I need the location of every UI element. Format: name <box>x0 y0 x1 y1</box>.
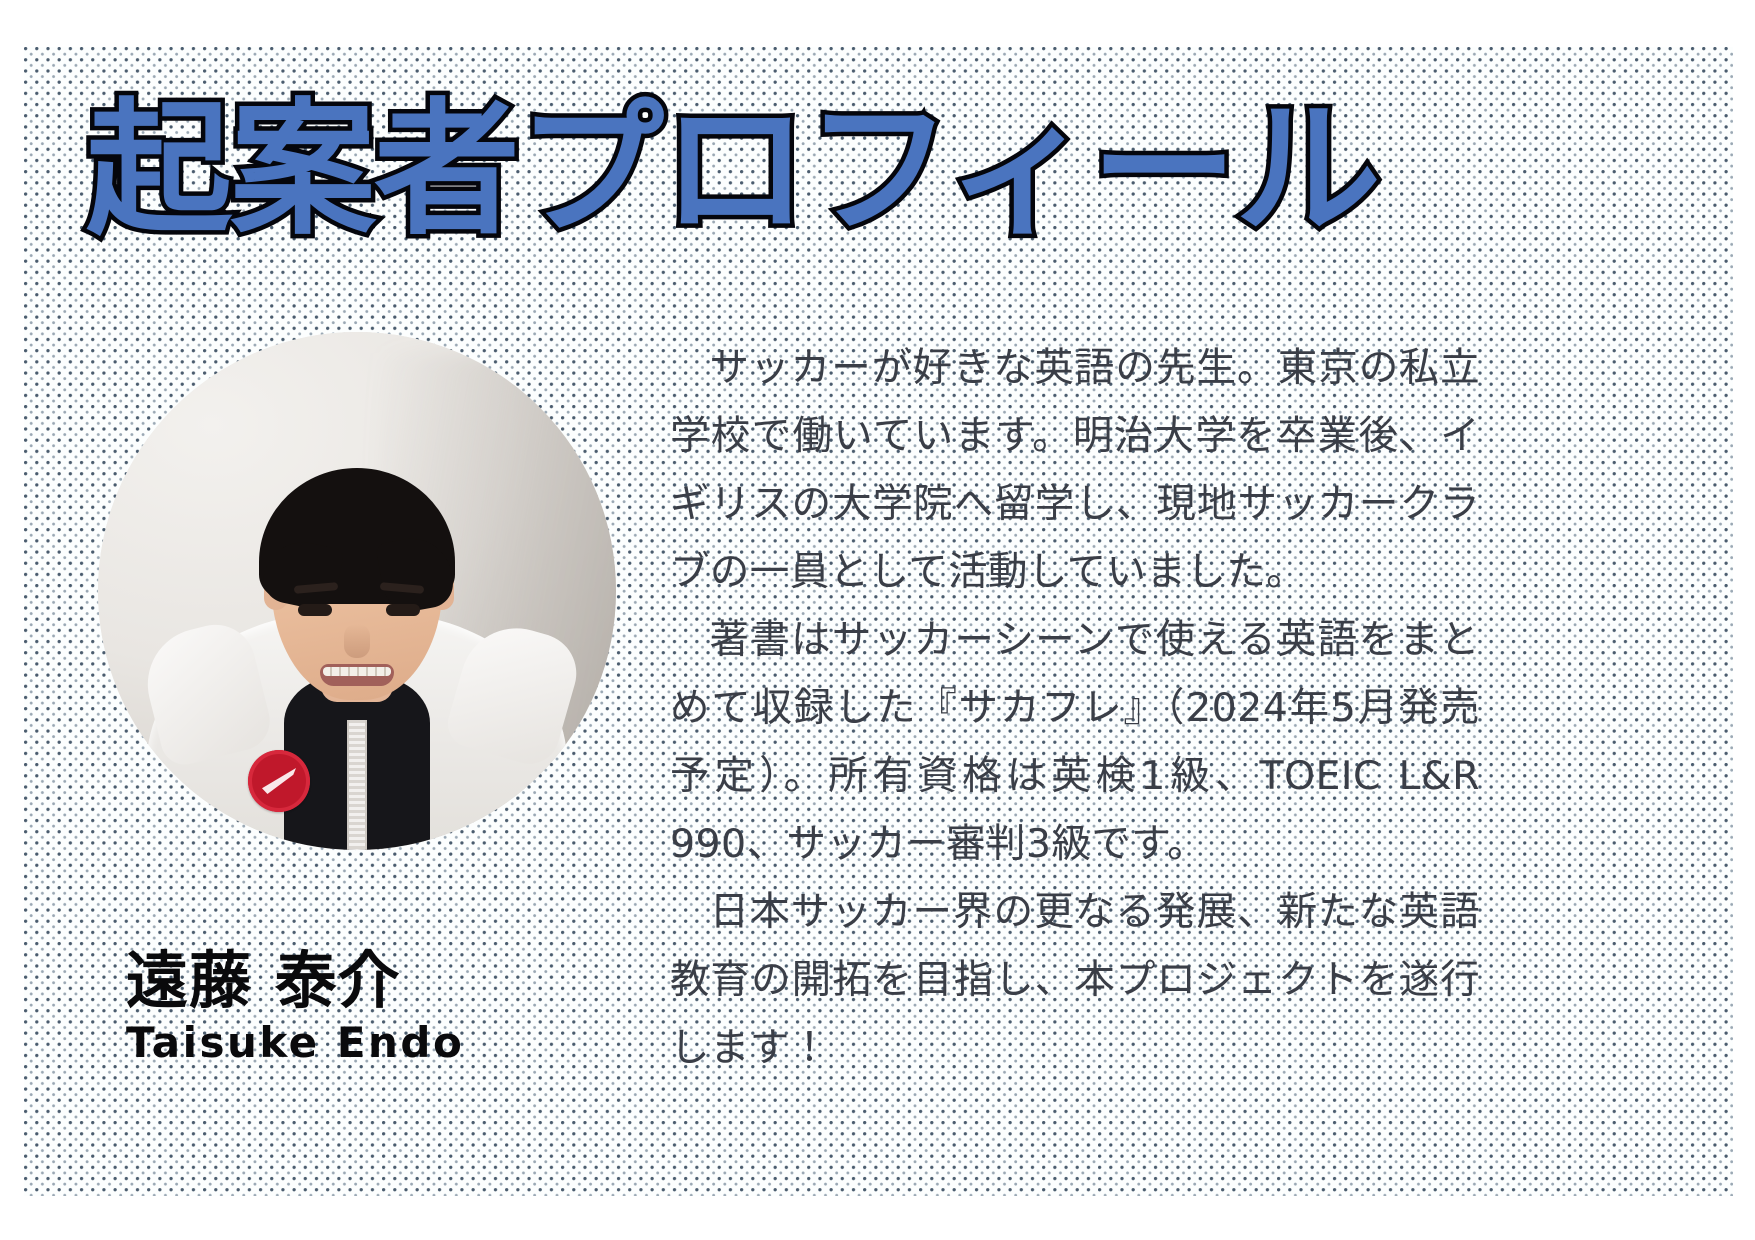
bio-text-column: サッカーが好きな英語の先生。東京の私立学校で働いています。明治大学を卒業後、イギ… <box>670 334 1480 1082</box>
page-title: 起案者プロフィール <box>86 86 1386 254</box>
photo-mouth <box>320 664 394 686</box>
bio-paragraph-1: サッカーが好きな英語の先生。東京の私立学校で働いています。明治大学を卒業後、イギ… <box>670 334 1480 606</box>
profile-photo <box>98 332 616 850</box>
photo-zipper <box>347 720 367 850</box>
profile-left-column: 遠藤 泰介 Taisuke Endo <box>92 332 622 1068</box>
name-block: 遠藤 泰介 Taisuke Endo <box>126 946 622 1068</box>
photo-eye-left <box>298 604 332 616</box>
name-japanese: 遠藤 泰介 <box>126 946 622 1016</box>
photo-nose <box>344 624 370 658</box>
bio-paragraph-3: 日本サッカー界の更なる発展、新たな英語教育の開拓を目指し、本プロジェクトを遂行し… <box>670 878 1480 1082</box>
name-romanized: Taisuke Endo <box>126 1018 622 1068</box>
photo-eye-right <box>386 604 420 616</box>
nike-just-do-it-badge-icon <box>248 750 310 812</box>
bio-paragraph-2: 著書はサッカーシーンで使える英語をまとめて収録した『サカフレ』（2024年5月発… <box>670 606 1480 878</box>
profile-poster: 起案者プロフィール 遠藤 泰介 Taisuke Endo <box>0 0 1755 1240</box>
page-title-container: 起案者プロフィール <box>86 86 1386 256</box>
